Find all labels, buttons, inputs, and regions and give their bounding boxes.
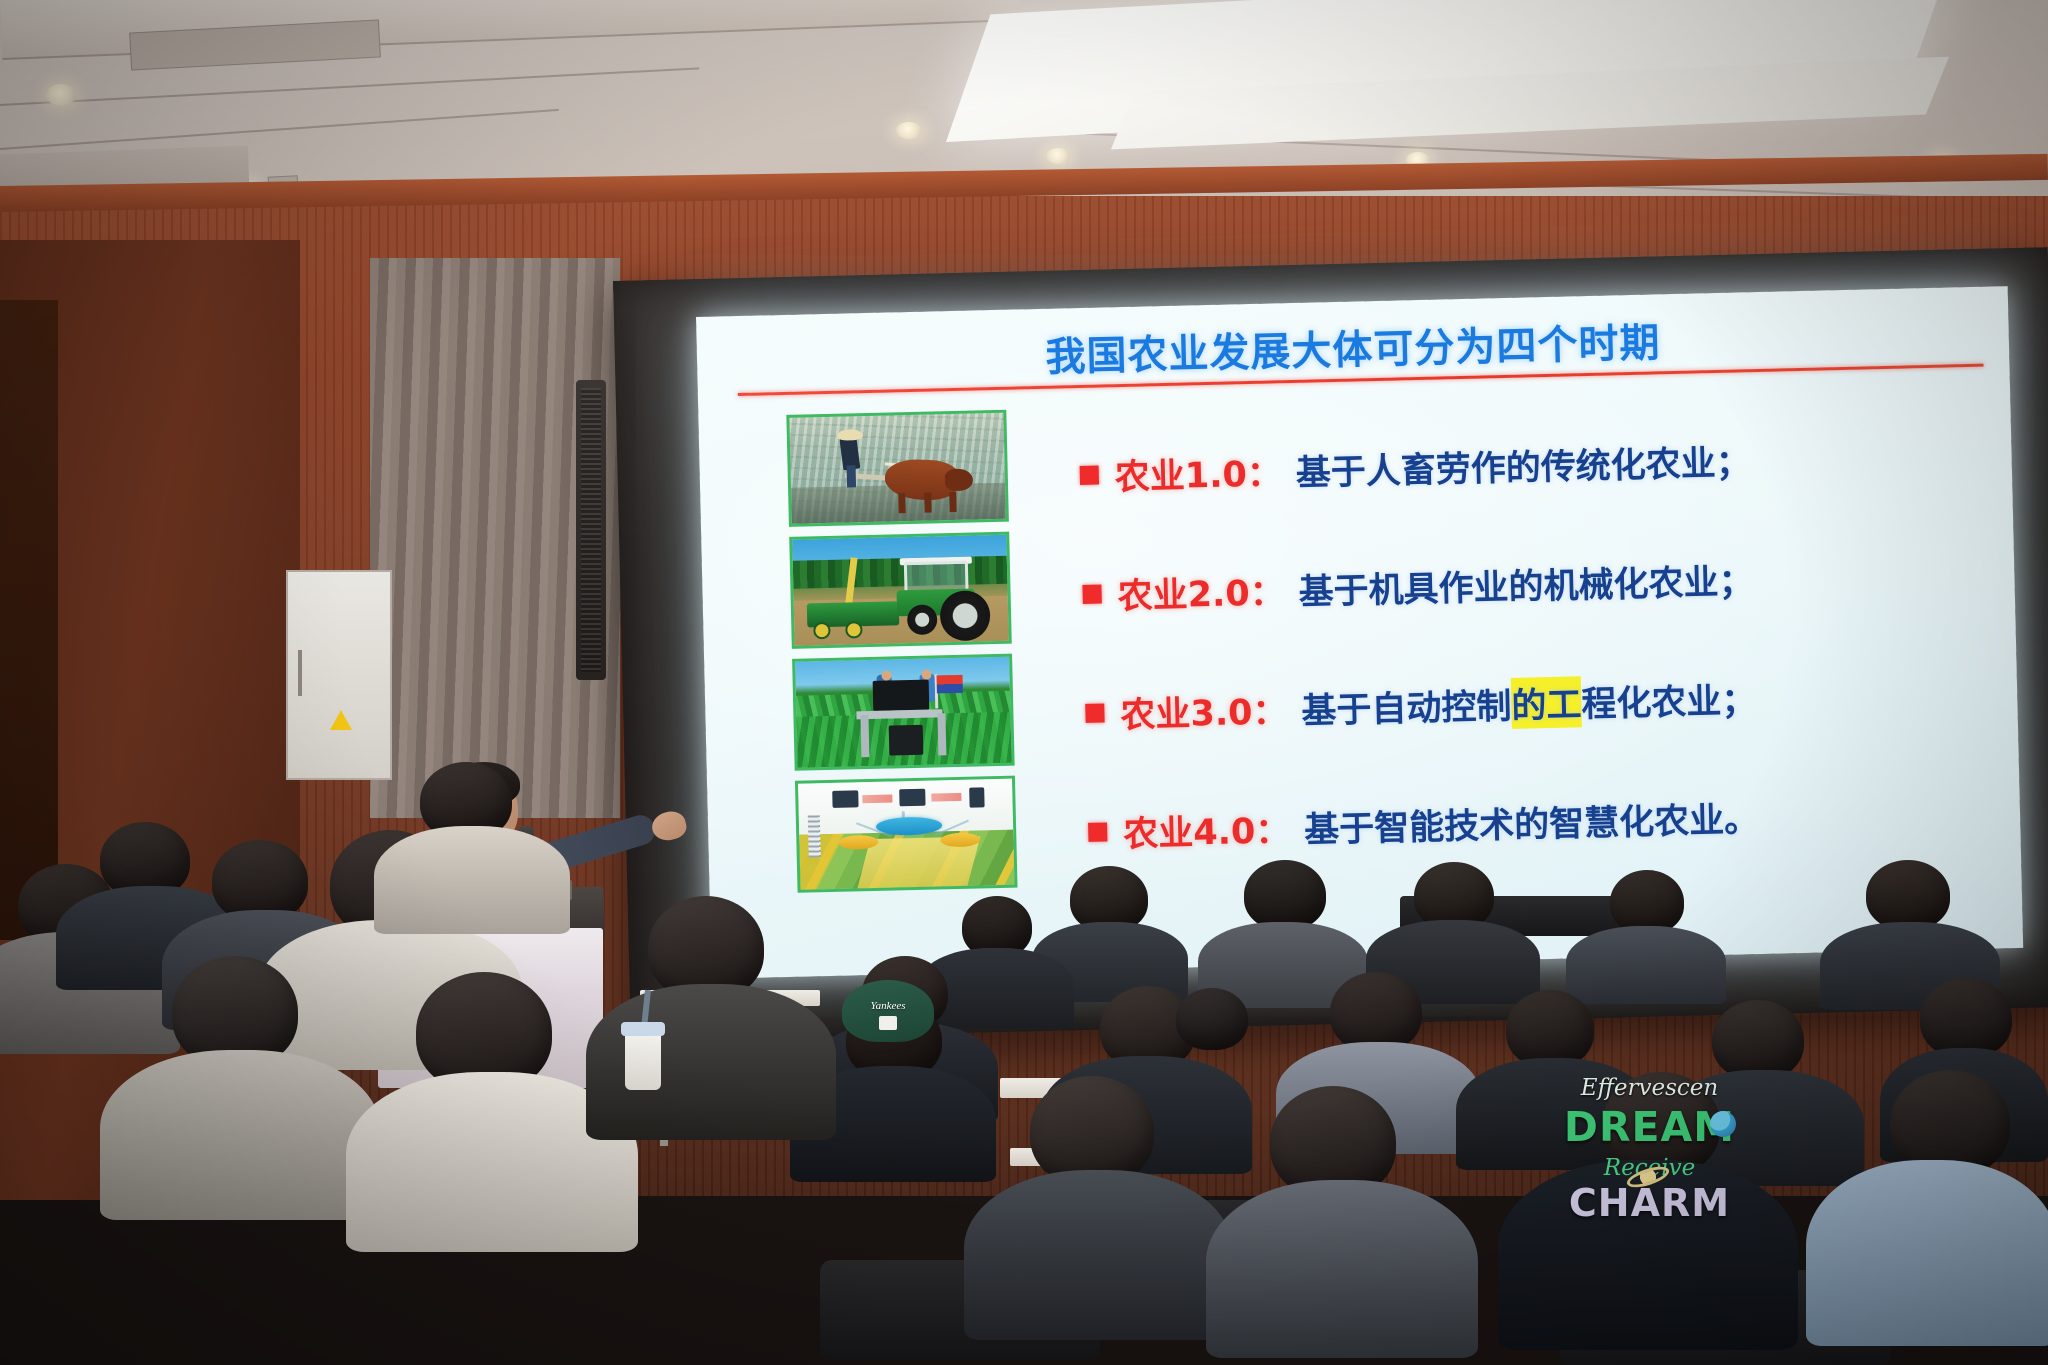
photo-automated-field-machine: [792, 654, 1015, 771]
wall-control-panel[interactable]: [286, 570, 392, 780]
bullet-item-agri-2: 农业2.0： 基于机具作业的机械化农业；: [1081, 513, 2002, 654]
photo-mechanized-tractor: [789, 532, 1012, 649]
bullet-square-icon: [1085, 703, 1104, 722]
planet-icon: [1710, 1111, 1736, 1137]
bullet-text-highlighted: 的工: [1511, 676, 1582, 729]
bullet-square-icon: [1082, 585, 1101, 604]
audience-shoulders: [586, 984, 836, 1140]
panel-hinge-icon: [298, 650, 302, 696]
slide-bullet-list: 农业1.0： 基于人畜劳作的传统化农业； 农业2.0： 基于机具作业的机械化农业…: [1078, 394, 2007, 891]
audience-head: [1506, 990, 1594, 1068]
bullet-text: 基于机具作业的机械化农业；: [1298, 553, 1754, 615]
drink-cup[interactable]: [625, 1030, 661, 1090]
audience-head: [1712, 1000, 1804, 1080]
audience-head: [1920, 978, 2012, 1058]
photo-traditional-farming: [786, 410, 1009, 527]
ceiling-downlight: [896, 122, 922, 139]
bullet-item-agri-1: 农业1.0： 基于人畜劳作的传统化农业；: [1078, 394, 1999, 535]
bullet-text-post: 程化农业；: [1581, 672, 1757, 727]
bullet-label: 农业3.0：: [1120, 683, 1288, 738]
audience-head: [1610, 870, 1684, 934]
bullet-label: 农业2.0：: [1117, 564, 1285, 619]
audience-shoulders: [1566, 926, 1726, 1004]
hoodie-text-line-1: Effervescen: [1542, 1075, 1757, 1101]
audience-shoulders: [1806, 1160, 2048, 1346]
bullet-text: 基于人畜劳作的传统化农业；: [1295, 434, 1751, 496]
audience-head: [1176, 988, 1248, 1050]
lecture-hall-photo: 我国农业发展大体可分为四个时期: [0, 0, 2048, 1365]
audience-head: [1244, 860, 1326, 930]
bullet-label: 农业4.0：: [1123, 802, 1291, 857]
bullet-label: 农业1.0：: [1114, 445, 1282, 500]
audience-shoulders: [100, 1050, 380, 1220]
bullet-item-agri-3: 农业3.0： 基于自动控制的工程化农业；: [1084, 632, 2005, 773]
bullet-text-pre: 基于自动控制: [1301, 678, 1512, 734]
audience-head: [1330, 972, 1422, 1052]
ceiling-downlight: [1046, 148, 1070, 164]
bullet-square-icon: [1088, 822, 1107, 841]
hoodie-text-line-4: CHARM: [1542, 1181, 1757, 1225]
side-door[interactable]: [0, 300, 58, 940]
wall-speaker: [576, 380, 606, 680]
ceiling-downlight: [46, 84, 76, 106]
audience-shoulders: [374, 826, 570, 934]
hoodie-graphic-print: Effervescen DREAM Receive CHARM: [1542, 1075, 1757, 1265]
slide-photo-column: [786, 410, 1017, 893]
cap-emblem-icon: [879, 1016, 897, 1030]
bullet-text: 基于智能技术的智慧化农业。: [1304, 791, 1760, 853]
audience-head: [1866, 860, 1950, 930]
drink-cup-lid: [621, 1022, 665, 1036]
audience-shoulders: [1206, 1180, 1478, 1358]
audience-shoulders: [964, 1170, 1232, 1340]
bullet-square-icon: [1080, 466, 1099, 485]
